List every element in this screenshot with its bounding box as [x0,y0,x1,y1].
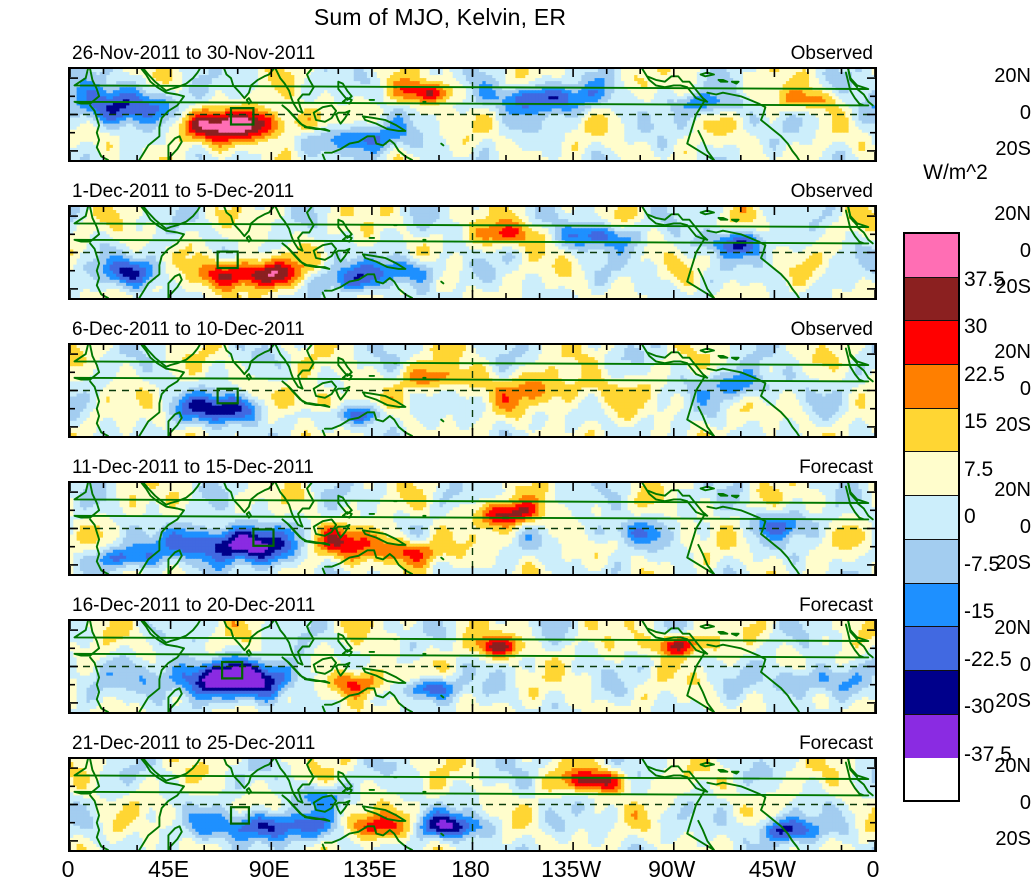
panel-status-6: Forecast [0,733,873,755]
y-axis-label: 20S [969,829,1031,849]
x-axis-label: 135E [330,857,410,881]
x-axis-label: 0 [833,857,913,881]
colorbar-band-7[interactable] [905,540,958,584]
x-axis-label: 90E [229,857,309,881]
colorbar-band-2[interactable] [905,321,958,365]
colorbar-band-9[interactable] [905,627,958,671]
x-axis-label: 45E [129,857,209,881]
page-title: Sum of MJO, Kelvin, ER [0,4,880,31]
panel-4-map[interactable] [68,481,877,576]
colorbar-band-0[interactable] [905,234,958,278]
colorbar-tick-label: -7.5 [964,554,1000,575]
colorbar-unit-label: W/m^2 [880,161,1031,185]
y-axis-label: 20N [969,480,1031,500]
colorbar-tick-label: 30 [964,316,987,337]
panel-6-map[interactable] [68,757,877,852]
panel-status-2: Observed [0,181,873,203]
colorbar[interactable] [903,232,960,802]
panel-5-map[interactable] [68,619,877,714]
panel-status-4: Forecast [0,457,873,479]
x-axis-label: 135W [531,857,611,881]
colorbar-band-6[interactable] [905,496,958,540]
colorbar-tick-label: 0 [964,506,976,527]
y-axis-label: 0 [969,793,1031,813]
y-axis-label: 20N [969,204,1031,224]
colorbar-tick-label: 15 [964,411,987,432]
x-axis-label: 0 [28,857,108,881]
x-axis-label: 45W [732,857,812,881]
colorbar-tick-label: 7.5 [964,459,993,480]
colorbar-tick-label: -15 [964,601,994,622]
colorbar-bands[interactable] [903,232,960,802]
x-axis-label: 90W [632,857,712,881]
x-axis-label: 180 [431,857,511,881]
colorbar-band-3[interactable] [905,365,958,409]
panel-1-map[interactable] [68,67,877,162]
panel-status-1: Observed [0,43,873,65]
panel-status-3: Observed [0,319,873,341]
y-axis-label: 20S [969,139,1031,159]
colorbar-band-11[interactable] [905,715,958,759]
panel-status-5: Forecast [0,595,873,617]
colorbar-tick-label: 37.5 [964,269,1005,290]
colorbar-band-4[interactable] [905,409,958,453]
colorbar-band-8[interactable] [905,584,958,628]
y-axis-label: 0 [969,103,1031,123]
colorbar-tick-label: -22.5 [964,649,1012,670]
colorbar-band-1[interactable] [905,278,958,322]
y-axis-label: 0 [969,517,1031,537]
y-axis-label: 20N [969,342,1031,362]
colorbar-band-5[interactable] [905,452,958,496]
colorbar-band-10[interactable] [905,671,958,715]
panel-2-map[interactable] [68,205,877,300]
colorbar-tick-label: 22.5 [964,364,1005,385]
y-axis-label: 0 [969,241,1031,261]
colorbar-tick-label: -37.5 [964,744,1012,765]
colorbar-tick-label: -30 [964,696,994,717]
figure-root: Sum of MJO, Kelvin, ER 26-Nov-2011 to 30… [0,0,1031,889]
y-axis-label: 20N [969,66,1031,86]
panel-3-map[interactable] [68,343,877,438]
